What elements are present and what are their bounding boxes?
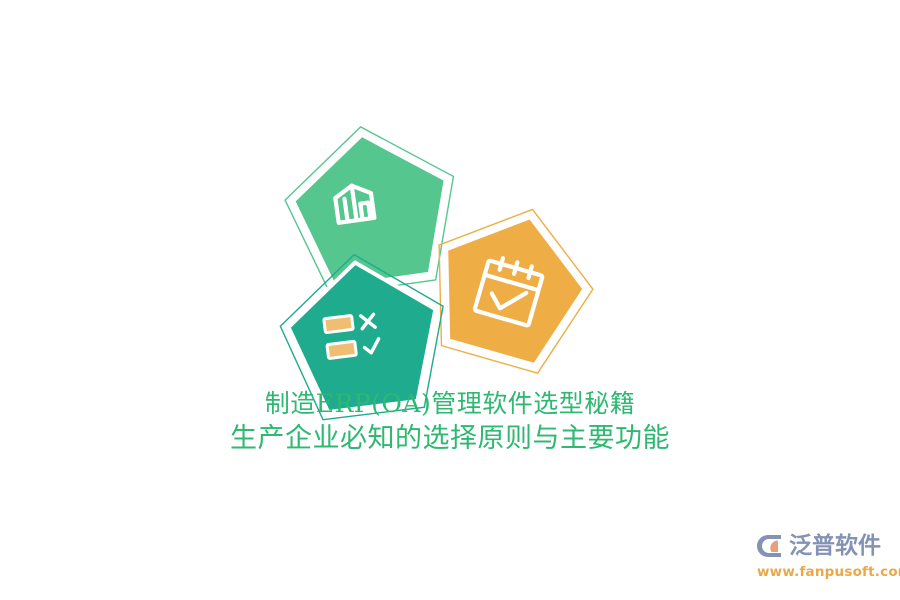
- brand-url: www.fanpusoft.com: [757, 564, 889, 580]
- brand-row: 泛普软件: [757, 530, 889, 562]
- fanpu-logo-icon: [757, 532, 785, 560]
- headline-line-2: 生产企业必知的选择原则与主要功能: [0, 421, 900, 456]
- headline-block: 制造ERP(OA)管理软件选型秘籍 生产企业必知的选择原则与主要功能: [0, 388, 900, 456]
- brand-name: 泛普软件: [789, 535, 881, 558]
- brand-watermark: 泛普软件 www.fanpusoft.com: [757, 530, 889, 586]
- headline-line-1: 制造ERP(OA)管理软件选型秘籍: [0, 388, 900, 421]
- pentagon-cluster-graphic: [270, 120, 570, 390]
- poster-canvas: 制造ERP(OA)管理软件选型秘籍 生产企业必知的选择原则与主要功能 泛普软件 …: [0, 0, 900, 600]
